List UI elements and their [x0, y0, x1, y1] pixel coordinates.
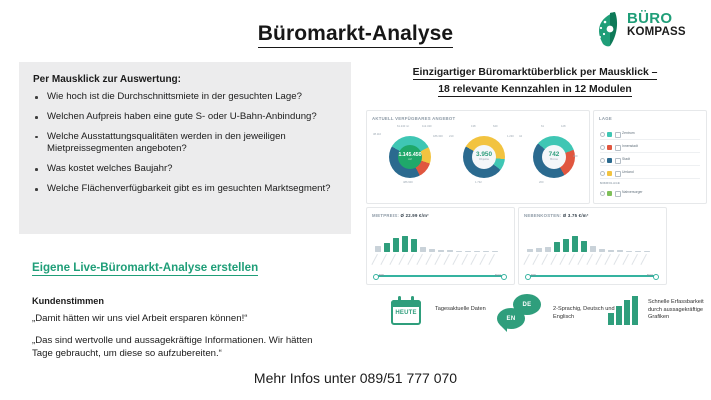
- donut-chart-3: 742 Büros: [533, 136, 575, 178]
- slider-min-label: MIN: [531, 273, 536, 277]
- questions-panel: Per Mausklick zur Auswertung: Wie hoch i…: [19, 62, 351, 234]
- row-handle-icon[interactable]: [600, 171, 605, 176]
- testimonial-quote-1: „Damit hätten wir uns viel Arbeit erspar…: [32, 313, 247, 324]
- list-item[interactable]: Nahversorger: [600, 188, 700, 198]
- bar: [599, 249, 605, 252]
- list-item: Welchen Aufpreis haben eine gute S- oder…: [33, 111, 339, 123]
- donut-3-tick: 44: [519, 135, 522, 138]
- color-swatch: [607, 132, 612, 137]
- color-swatch: [607, 171, 612, 176]
- donut-1-tick: 61.240 m²: [397, 125, 409, 128]
- bar: [438, 250, 444, 252]
- slider-knob-max[interactable]: [501, 274, 507, 280]
- bar: [644, 251, 650, 252]
- create-analysis-link[interactable]: Eigene Live-Büromarkt-Analyse erstellen: [32, 261, 258, 276]
- row-handle-icon[interactable]: [600, 158, 605, 163]
- donut-2-tick: 1.732: [475, 181, 482, 184]
- donut-chart-2-unit: Objekte: [479, 158, 489, 161]
- list-item-label: Zentrum: [622, 131, 635, 135]
- list-item[interactable]: Innenstadt: [600, 142, 700, 153]
- card-available-offer: AKTUELL VERFÜGBARES ANGEBOT 1.145.450 m²…: [366, 110, 590, 204]
- donut-3-tick: 128: [561, 125, 565, 128]
- calendar-label: HEUTE: [391, 310, 421, 316]
- card-mietpreis-label-text: MIETPREIS:: [372, 213, 399, 218]
- bar: [402, 236, 408, 252]
- donut-2-tick: 210: [449, 135, 453, 138]
- bar: [626, 251, 632, 252]
- questions-list: Wie hoch ist die Durchschnittsmiete in d…: [19, 87, 351, 195]
- bar: [581, 241, 587, 252]
- footer-contact: Mehr Infos unter 089/51 777 070: [0, 370, 711, 386]
- card-mietpreis-value: Ø 22.99 €/m²: [401, 213, 429, 218]
- donut-1-tick: 486.900: [403, 181, 413, 184]
- donut-chart-1-center: 1.145.450 m²: [398, 145, 422, 169]
- bar-chart-icon: [608, 296, 642, 325]
- mietpreis-axis: [375, 254, 507, 268]
- slider-min-label: MIN: [379, 273, 384, 277]
- bar: [554, 242, 560, 252]
- row-handle-icon[interactable]: [600, 145, 605, 150]
- bar: [420, 247, 426, 252]
- card-available-offer-label: AKTUELL VERFÜGBARES ANGEBOT: [372, 116, 455, 121]
- bar: [616, 306, 622, 325]
- donut-2-tick: 1.230: [507, 135, 514, 138]
- bar: [624, 300, 630, 325]
- card-lage-label: LAGE: [599, 116, 612, 121]
- speech-bubble-en-label: EN: [507, 316, 516, 322]
- logo-wordmark: BÜRO KOMPASS: [627, 11, 686, 39]
- bar: [617, 250, 623, 252]
- bar: [545, 247, 551, 252]
- bar: [527, 249, 533, 252]
- checkbox[interactable]: [615, 145, 621, 151]
- donut-chart-2: 3.950 Objekte: [463, 136, 505, 178]
- bar: [483, 251, 489, 252]
- card-lage: LAGE Zentrum Innenstadt Stadt: [593, 110, 707, 204]
- slider-max-label: MAX: [495, 273, 501, 277]
- donut-chart-1: 1.145.450 m²: [389, 136, 431, 178]
- nebenkosten-axis: [527, 254, 659, 268]
- card-nebenkosten: NEBENKOSTEN: Ø 3.75 €/m²: [518, 207, 667, 285]
- donut-3-tick: 61: [541, 125, 544, 128]
- row-handle-icon[interactable]: [600, 132, 605, 137]
- bar: [384, 243, 390, 252]
- list-item-label: Innenstadt: [622, 144, 638, 148]
- nebenkosten-bar-chart: [527, 230, 659, 252]
- bar: [536, 248, 542, 252]
- list-item[interactable]: Stadt: [600, 155, 700, 166]
- list-item-label: Nahversorger: [622, 190, 643, 194]
- list-item-label: Umland: [622, 170, 634, 174]
- bar: [447, 250, 453, 252]
- slider-max-label: MAX: [647, 273, 653, 277]
- feature-label: Schnelle Erfassbarkeit durch aussagekräf…: [648, 299, 710, 322]
- testimonials-heading: Kundenstimmen: [32, 296, 104, 306]
- card-nebenkosten-label-text: NEBENKOSTEN:: [524, 213, 561, 218]
- donut-3-tick: 309: [573, 155, 577, 158]
- leaf-compass-icon: [593, 10, 627, 48]
- card-mietpreis-label: MIETPREIS: Ø 22.99 €/m²: [372, 213, 429, 218]
- bar: [411, 239, 417, 252]
- mietpreis-range-slider[interactable]: MIN MAX: [373, 274, 507, 278]
- mietpreis-bar-chart: [375, 230, 507, 252]
- list-item: Welche Flächenverfügbarkeit gibt es im g…: [33, 183, 339, 195]
- bar: [456, 251, 462, 252]
- calendar-header-bar: [391, 300, 421, 307]
- checkbox[interactable]: [615, 171, 621, 177]
- bar: [492, 251, 498, 252]
- bar: [465, 251, 471, 252]
- checkbox[interactable]: [615, 158, 621, 164]
- checkbox[interactable]: [615, 132, 621, 138]
- nebenkosten-range-slider[interactable]: MIN MAX: [525, 274, 659, 278]
- bar: [393, 238, 399, 252]
- logo: BÜRO KOMPASS: [593, 8, 701, 50]
- list-item: Was kostet welches Baujahr?: [33, 163, 339, 175]
- bar: [429, 249, 435, 252]
- bar: [572, 236, 578, 252]
- card-mietpreis: MIETPREIS: Ø 22.99 €/m²: [366, 207, 515, 285]
- donut-chart-1-unit: m²: [408, 158, 412, 161]
- donut-chart-3-center: 742 Büros: [542, 145, 566, 169]
- logo-line-buro: BÜRO: [627, 11, 686, 26]
- card-nebenkosten-value: Ø 3.75 €/m²: [563, 213, 589, 218]
- dashboard-heading-line-1: Einzigartiger Büromarktüberblick per Mau…: [413, 67, 658, 80]
- bar: [608, 313, 614, 325]
- donut-1-tick: 186.300: [433, 135, 443, 138]
- card-nebenkosten-label: NEBENKOSTEN: Ø 3.75 €/m²: [524, 213, 589, 218]
- slider-knob-max[interactable]: [653, 274, 659, 280]
- color-swatch: [607, 191, 612, 196]
- donut-chart-2-center: 3.950 Objekte: [472, 145, 496, 169]
- donut-2-tick: 138: [471, 125, 475, 128]
- bar: [608, 250, 614, 252]
- dashboard-heading-line-2: 18 relevante Kennzahlen in 12 Modulen: [438, 84, 631, 97]
- list-item[interactable]: Zentrum: [600, 129, 700, 140]
- bar: [375, 246, 381, 252]
- bar: [563, 239, 569, 252]
- testimonial-quote-2: „Das sind wertvolle und aussagekräftige …: [32, 334, 314, 360]
- feature-label: Tagesaktuelle Daten: [435, 306, 505, 314]
- list-item[interactable]: Umland: [600, 168, 700, 179]
- slider-track[interactable]: [377, 275, 503, 276]
- slide-root: Büromarkt-Analyse BÜRO KOMPASS Per Mausk…: [0, 0, 711, 400]
- questions-heading: Per Mausklick zur Auswertung:: [19, 62, 351, 87]
- calendar-icon: HEUTE: [391, 296, 421, 325]
- list-item: Wie hoch ist die Durchschnittsmiete in d…: [33, 91, 339, 103]
- donut-2-tick: 640: [493, 125, 497, 128]
- color-swatch: [607, 158, 612, 163]
- checkbox[interactable]: [615, 191, 621, 197]
- dashboard-heading: Einzigartiger Büromarktüberblick per Mau…: [366, 64, 704, 98]
- speech-bubble-de-label: DE: [523, 302, 532, 308]
- donut-1-tick: 38.110: [373, 133, 381, 136]
- bar: [590, 246, 596, 252]
- donut-1-tick: 112.430: [422, 125, 432, 128]
- donut-chart-3-unit: Büros: [550, 158, 558, 161]
- list-item-label: Stadt: [622, 157, 630, 161]
- slider-track[interactable]: [529, 275, 655, 276]
- speech-bubbles-icon: DE EN: [497, 294, 543, 330]
- row-handle-icon[interactable]: [600, 191, 605, 196]
- bar: [632, 296, 638, 325]
- page-title-text: Büromarkt-Analyse: [258, 22, 453, 48]
- group-label: MIKROLAGE: [600, 181, 620, 185]
- bar: [474, 251, 480, 252]
- logo-line-kompass: KOMPASS: [627, 26, 686, 39]
- color-swatch: [607, 145, 612, 150]
- speech-bubble-en-tail: [500, 325, 507, 332]
- bar: [635, 251, 641, 252]
- dashboard-screenshot: AKTUELL VERFÜGBARES ANGEBOT 1.145.450 m²…: [366, 110, 705, 285]
- donut-3-tick: 200: [539, 181, 543, 184]
- list-item: Welche Ausstattungsqualitäten werden in …: [33, 131, 339, 156]
